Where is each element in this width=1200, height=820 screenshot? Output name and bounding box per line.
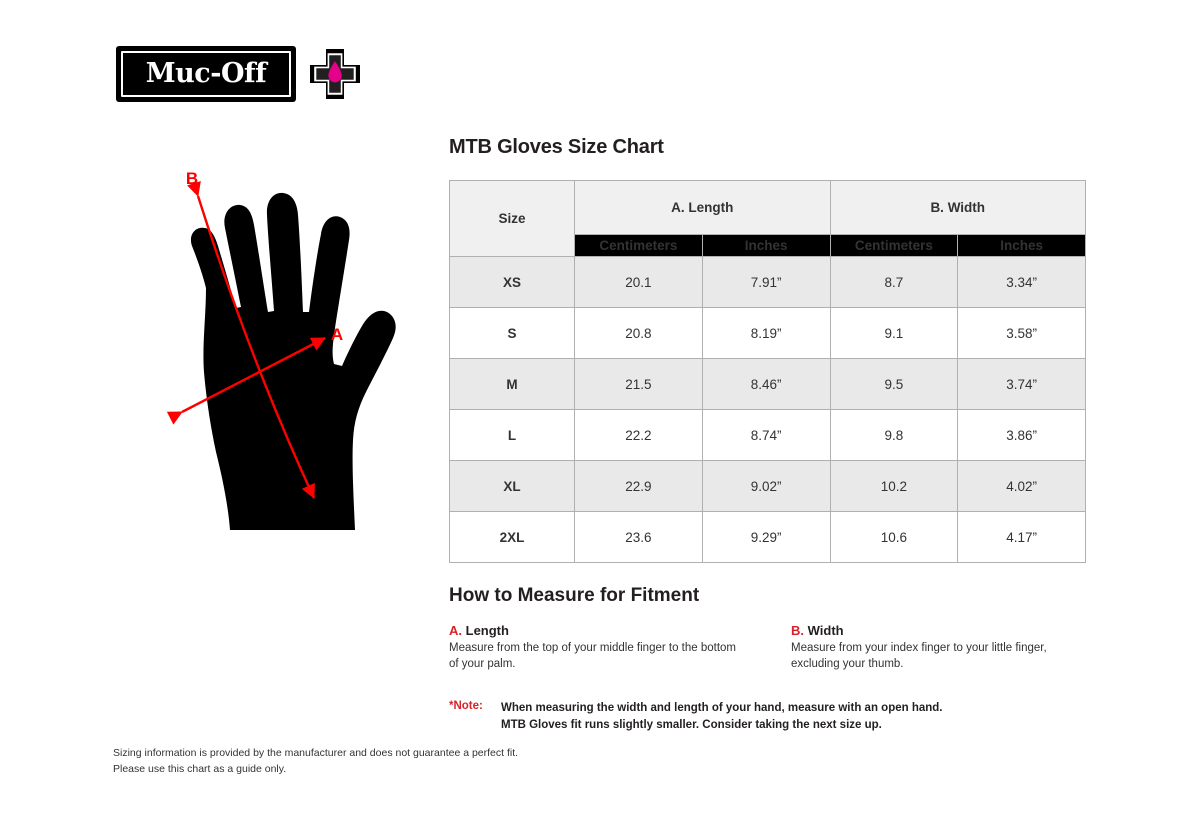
muc-off-wordmark: Muc-Off — [116, 46, 296, 102]
note-line-2: MTB Gloves fit runs slightly smaller. Co… — [501, 717, 943, 734]
how-to-item-length: A. Length Measure from the top of your m… — [449, 623, 747, 672]
how-to-item-length-heading: A. Length — [449, 623, 747, 638]
table-row: XS20.17.91”8.73.34” — [450, 257, 1086, 308]
note-block: *Note: When measuring the width and leng… — [449, 700, 943, 733]
cell-length-cm: 23.6 — [575, 512, 703, 563]
column-header-width-in: Inches — [958, 234, 1086, 256]
table-header-row-groups: Size A. Length B. Width — [450, 181, 1086, 235]
how-to-item-width-body: Measure from your index finger to your l… — [791, 641, 1089, 672]
cell-width-cm: 8.7 — [830, 257, 958, 308]
column-header-length-in: Inches — [702, 234, 830, 256]
how-to-item-width: B. Width Measure from your index finger … — [791, 623, 1089, 672]
how-to-item-length-body: Measure from the top of your middle fing… — [449, 641, 747, 672]
cell-length-in: 8.74” — [702, 410, 830, 461]
brand-logo: Muc-Off — [116, 46, 362, 102]
how-to-item-length-name: Length — [466, 623, 509, 638]
cell-size: XL — [450, 461, 575, 512]
table-row: L22.28.74”9.83.86” — [450, 410, 1086, 461]
column-header-size: Size — [450, 181, 575, 257]
cell-width-in: 3.34” — [958, 257, 1086, 308]
medical-cross-droplet-icon — [308, 47, 362, 101]
table-row: M21.58.46”9.53.74” — [450, 359, 1086, 410]
diagram-label-a: A — [331, 325, 343, 344]
table-header: Size A. Length B. Width Centimeters Inch… — [450, 181, 1086, 257]
page-title: MTB Gloves Size Chart — [449, 136, 1086, 159]
muc-off-wordmark-text: Muc-Off — [146, 60, 266, 89]
note-text: When measuring the width and length of y… — [501, 700, 943, 733]
cell-length-cm: 22.9 — [575, 461, 703, 512]
cell-size: M — [450, 359, 575, 410]
cell-width-cm: 9.5 — [830, 359, 958, 410]
disclaimer-line-1: Sizing information is provided by the ma… — [113, 746, 518, 762]
cell-length-in: 8.46” — [702, 359, 830, 410]
cell-length-cm: 21.5 — [575, 359, 703, 410]
cell-length-in: 7.91” — [702, 257, 830, 308]
column-header-width-cm: Centimeters — [830, 234, 958, 256]
cell-width-in: 4.17” — [958, 512, 1086, 563]
cell-width-in: 4.02” — [958, 461, 1086, 512]
size-chart-table: Size A. Length B. Width Centimeters Inch… — [449, 180, 1086, 563]
table-body: XS20.17.91”8.73.34”S20.88.19”9.13.58”M21… — [450, 257, 1086, 563]
cell-length-in: 8.19” — [702, 308, 830, 359]
how-to-measure-section: How to Measure for Fitment A. Length Mea… — [449, 585, 1089, 672]
column-header-group-length: A. Length — [575, 181, 831, 235]
cell-length-cm: 20.1 — [575, 257, 703, 308]
cell-size: L — [450, 410, 575, 461]
disclaimer-line-2: Please use this chart as a guide only. — [113, 762, 518, 778]
cell-width-in: 3.74” — [958, 359, 1086, 410]
hand-measurement-diagram: B A — [110, 160, 420, 530]
cell-length-cm: 22.2 — [575, 410, 703, 461]
column-header-length-cm: Centimeters — [575, 234, 703, 256]
disclaimer-text: Sizing information is provided by the ma… — [113, 746, 518, 778]
diagram-label-b: B — [186, 169, 198, 188]
column-header-group-width: B. Width — [830, 181, 1086, 235]
note-line-1: When measuring the width and length of y… — [501, 700, 943, 717]
cell-size: XS — [450, 257, 575, 308]
how-to-measure-columns: A. Length Measure from the top of your m… — [449, 623, 1089, 672]
cell-width-in: 3.58” — [958, 308, 1086, 359]
cell-width-in: 3.86” — [958, 410, 1086, 461]
cell-length-in: 9.29” — [702, 512, 830, 563]
cell-width-cm: 9.8 — [830, 410, 958, 461]
hand-silhouette — [191, 193, 396, 530]
table-row: XL22.99.02”10.24.02” — [450, 461, 1086, 512]
how-to-measure-title: How to Measure for Fitment — [449, 585, 1089, 607]
how-to-item-width-heading: B. Width — [791, 623, 1089, 638]
how-to-item-width-name: Width — [808, 623, 844, 638]
cell-width-cm: 10.2 — [830, 461, 958, 512]
how-to-item-width-marker: B. — [791, 623, 804, 638]
cell-length-cm: 20.8 — [575, 308, 703, 359]
cell-width-cm: 10.6 — [830, 512, 958, 563]
table-row: S20.88.19”9.13.58” — [450, 308, 1086, 359]
table-row: 2XL23.69.29”10.64.17” — [450, 512, 1086, 563]
cell-length-in: 9.02” — [702, 461, 830, 512]
cell-width-cm: 9.1 — [830, 308, 958, 359]
size-chart-panel: MTB Gloves Size Chart Size A. Length B. … — [449, 136, 1086, 563]
cell-size: S — [450, 308, 575, 359]
cell-size: 2XL — [450, 512, 575, 563]
note-label: *Note: — [449, 700, 501, 733]
how-to-item-length-marker: A. — [449, 623, 462, 638]
